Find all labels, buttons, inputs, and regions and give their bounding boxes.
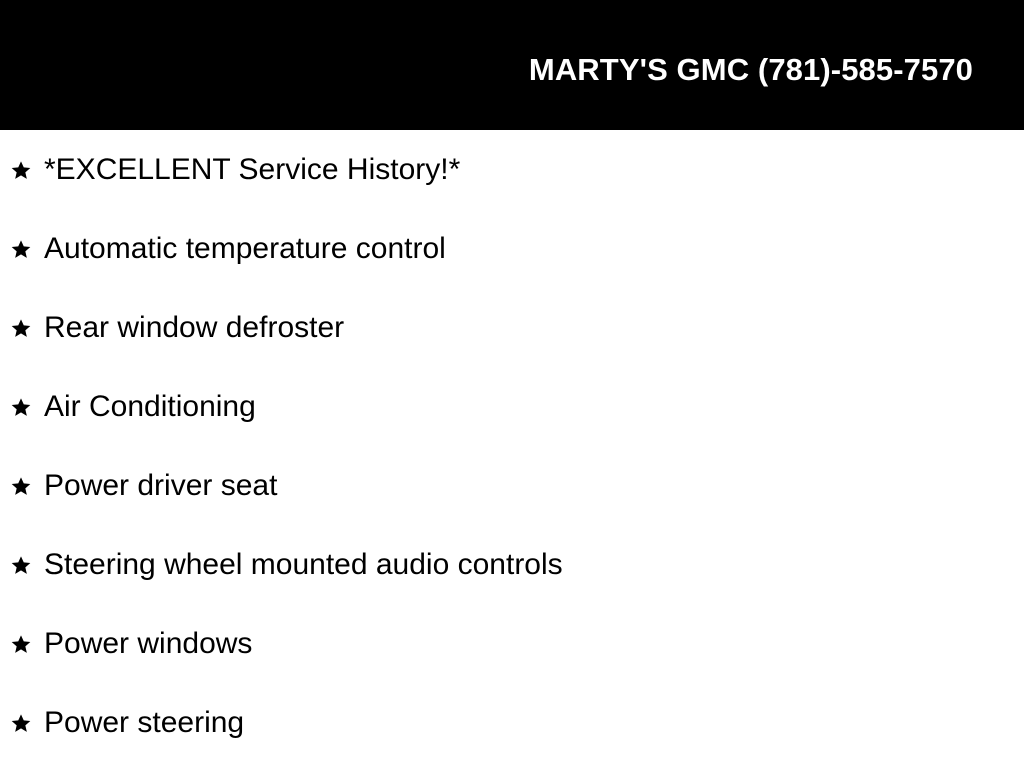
feature-label: *EXCELLENT Service History!* [44, 155, 460, 185]
feature-label: Air Conditioning [44, 392, 256, 422]
feature-label: Power windows [44, 629, 252, 659]
star-icon [11, 239, 31, 259]
feature-label: Power steering [44, 708, 244, 738]
list-item: Automatic temperature control [0, 209, 1024, 288]
feature-list: *EXCELLENT Service History!* Automatic t… [0, 130, 1024, 768]
list-item: Air Conditioning [0, 367, 1024, 446]
star-icon [11, 318, 31, 338]
star-icon [11, 713, 31, 733]
feature-label: Power driver seat [44, 471, 277, 501]
star-icon [11, 555, 31, 575]
list-item: Power windows [0, 604, 1024, 683]
star-icon [11, 476, 31, 496]
list-item: Steering wheel mounted audio controls [0, 525, 1024, 604]
list-item: *EXCELLENT Service History!* [0, 130, 1024, 209]
dealer-header-bar: MARTY'S GMC (781)-585-7570 [0, 0, 1024, 130]
star-icon [11, 160, 31, 180]
feature-label: Steering wheel mounted audio controls [44, 550, 563, 580]
star-icon [11, 397, 31, 417]
feature-label: Automatic temperature control [44, 234, 446, 264]
list-item: Rear window defroster [0, 288, 1024, 367]
dealer-name-and-phone: MARTY'S GMC (781)-585-7570 [529, 53, 973, 87]
list-item: Power steering [0, 683, 1024, 762]
vehicle-features-page: MARTY'S GMC (781)-585-7570 *EXCELLENT Se… [0, 0, 1024, 768]
list-item: Power driver seat [0, 446, 1024, 525]
feature-label: Rear window defroster [44, 313, 344, 343]
star-icon [11, 634, 31, 654]
